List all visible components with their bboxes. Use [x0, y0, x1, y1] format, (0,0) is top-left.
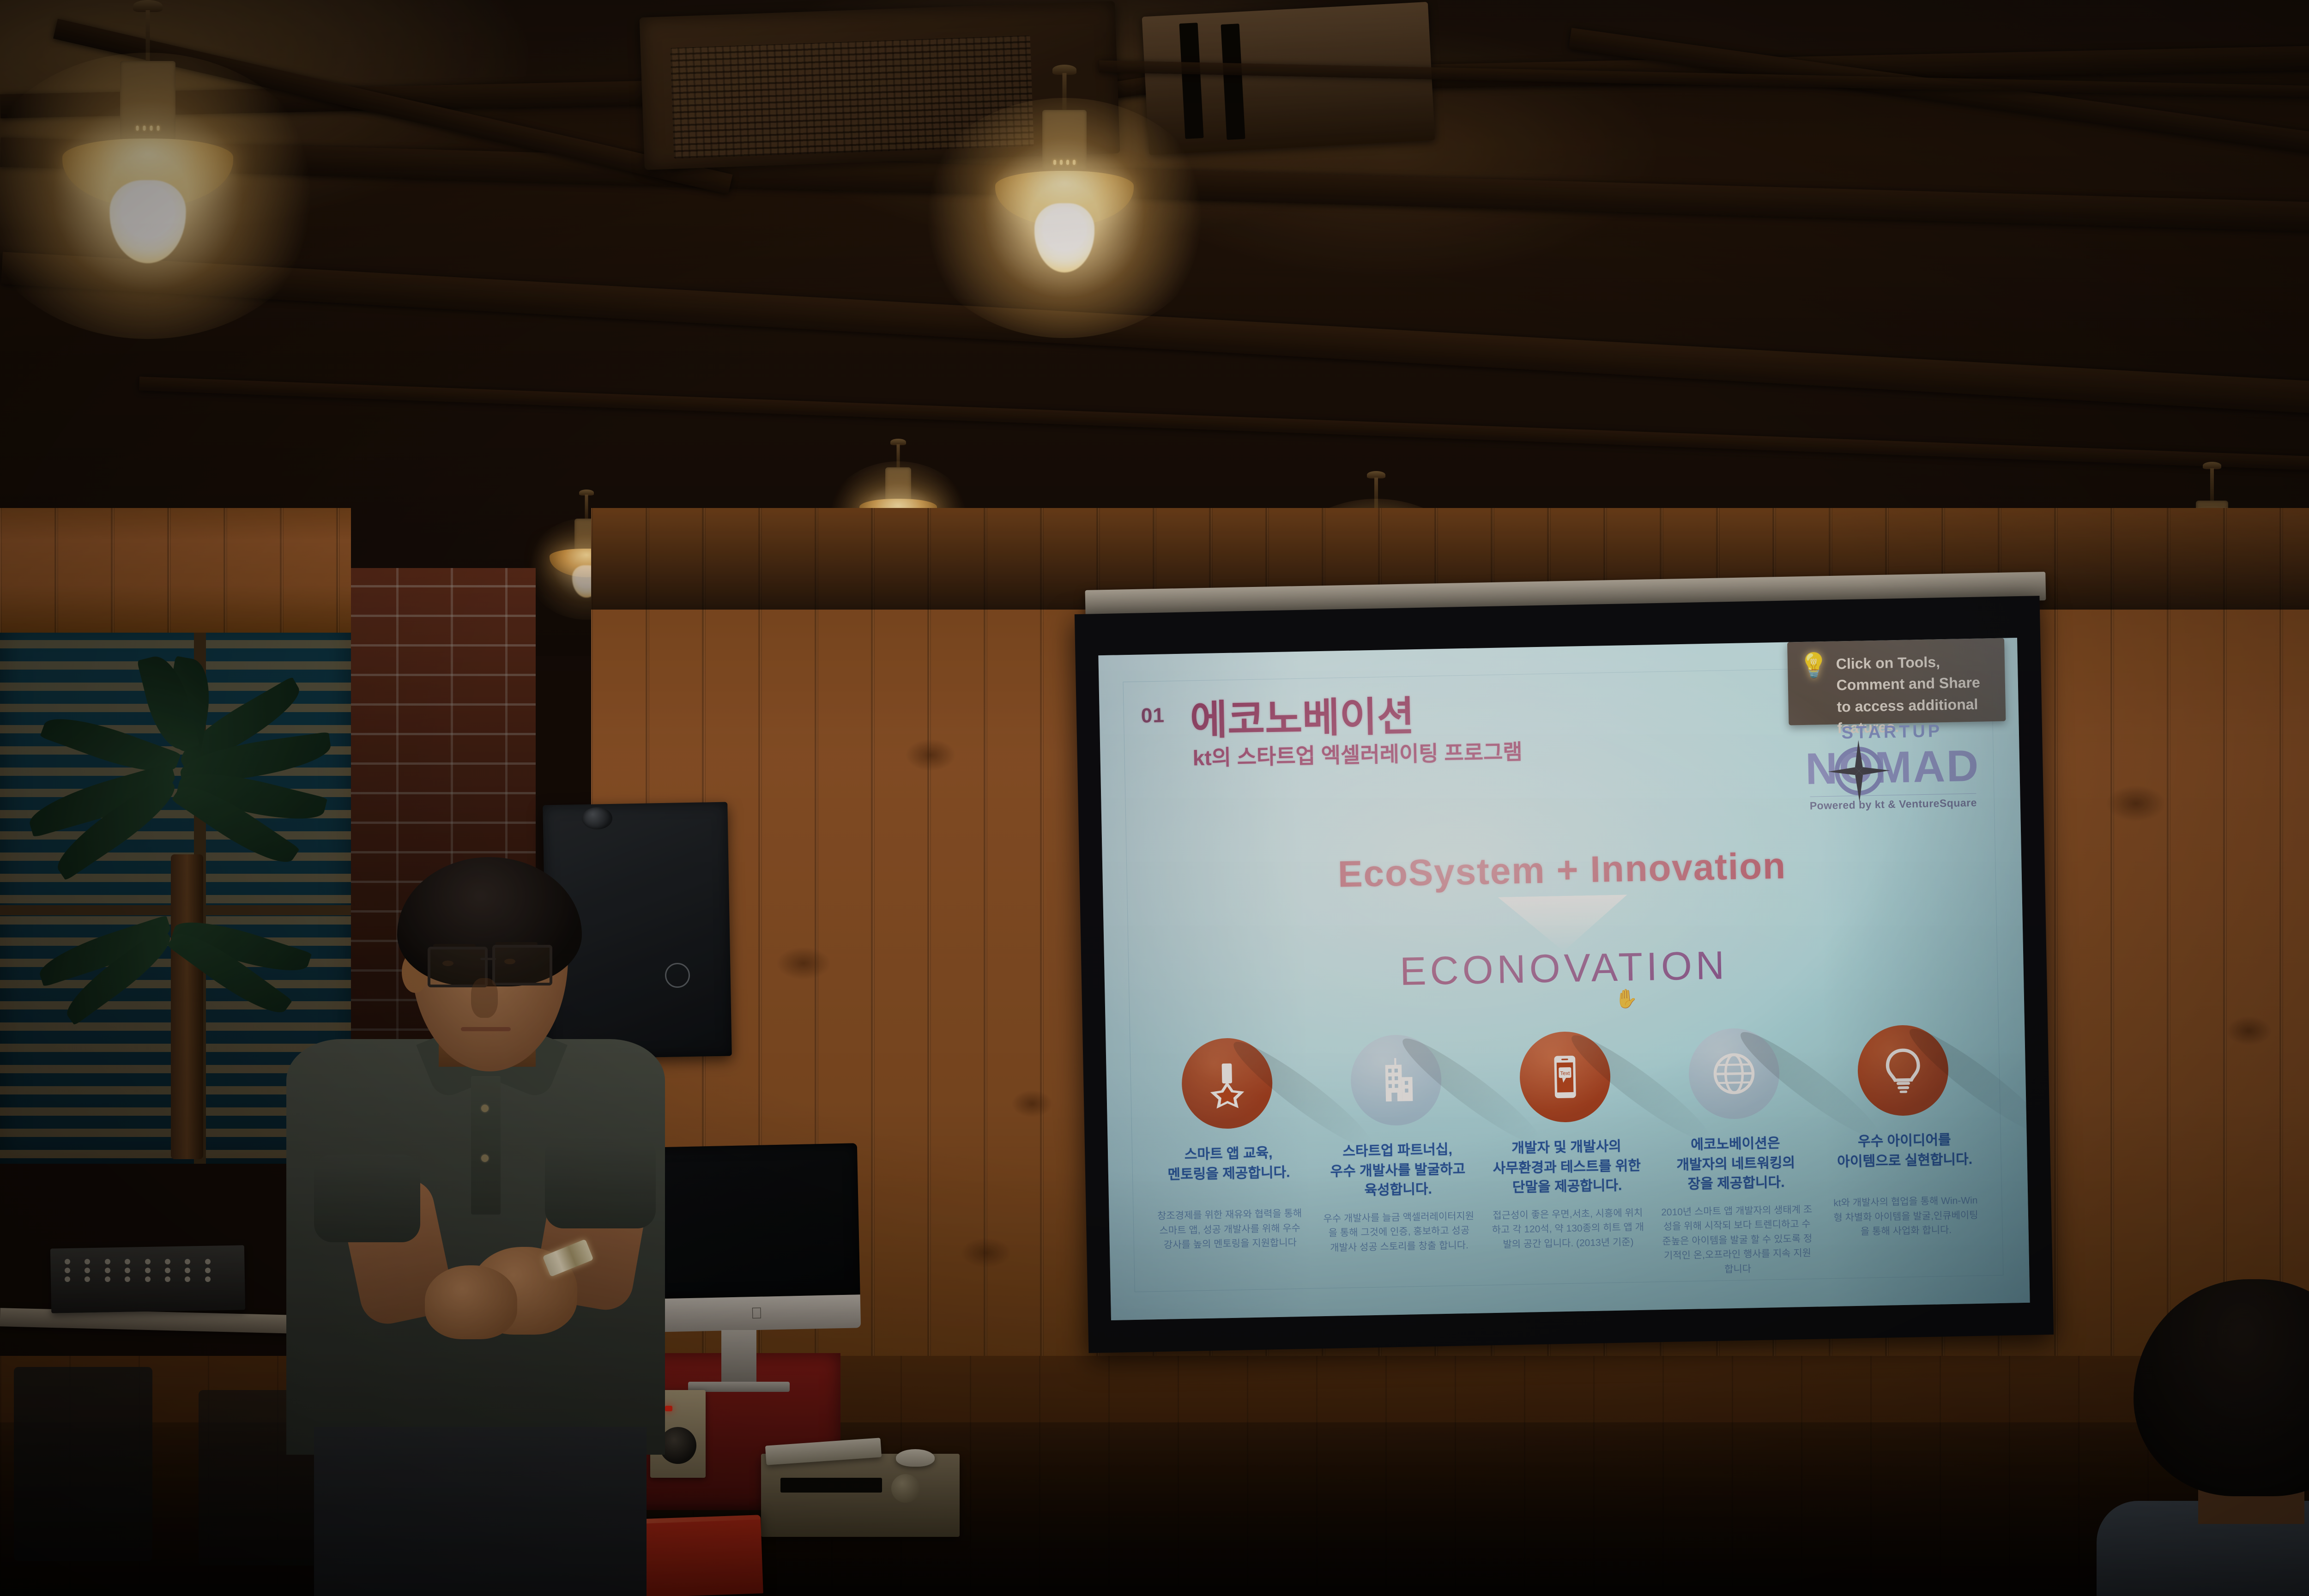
feature-column: 에코노베이션은 개발자의 네트워킹의 장을 제공합니다. 2010년 스마트 앱… — [1657, 1027, 1814, 1278]
presenter — [286, 831, 817, 1596]
feature-body: kt와 개발사의 협업을 통해 Win-Win형 차별화 아이템을 발굴,인큐베… — [1829, 1193, 1983, 1240]
feature-body: 우수 개발사를 늘금 액셀러레이터지원을 통해 그것에 인증, 홍보하고 성공 … — [1323, 1209, 1476, 1256]
tooltip-popup[interactable]: 💡 Click on Tools, Comment and Share to a… — [1787, 638, 2006, 725]
feature-columns: 스마트 앱 교육, 멘토링을 제공합니다. 창조경제를 위한 재유와 협력을 통… — [1150, 1024, 1986, 1288]
feature-body: 창조경제를 위한 재유와 협력을 통해 스마트 앱, 성공 개발사를 위해 우수… — [1153, 1206, 1306, 1253]
presenter-sleeve — [314, 1155, 420, 1242]
eyeglasses-bridge — [480, 958, 496, 960]
feature-column: 스타트업 파트너십, 우수 개발사를 발굴하고 육성합니다. 우수 개발사를 늘… — [1319, 1034, 1475, 1256]
mouse[interactable] — [896, 1449, 935, 1467]
wood-knot — [1011, 1090, 1053, 1118]
presenter-trousers — [314, 1427, 647, 1596]
feature-column: 스마트 앱 교육, 멘토링을 제공합니다. 창조경제를 위한 재유와 협력을 통… — [1150, 1037, 1306, 1253]
presenter-placket — [471, 1076, 501, 1215]
photo-scene: 01 에코노베이션 kt의 스타트업 엑셀러레이팅 프로그램 EcoSystem… — [0, 0, 2309, 1596]
presenter-sleeve — [545, 1136, 656, 1228]
logo-main-word: NOMAD — [1783, 740, 2001, 795]
desk — [0, 1308, 296, 1334]
feature-body: 2010년 스마트 앱 개발자의 생태계 조성을 위해 시작되 보다 트렌디하고… — [1660, 1203, 1814, 1278]
speaker-mount — [582, 807, 612, 829]
receiver-volume-knob[interactable] — [891, 1474, 920, 1503]
feature-title: 스마트 앱 교육, 멘토링을 제공합니다. — [1167, 1143, 1290, 1185]
hand-cursor-icon[interactable]: ✋ — [1614, 988, 1638, 1010]
presenter-nose — [471, 978, 498, 1018]
lightbulb-idea-icon — [1857, 1024, 1949, 1117]
pendant-lamp — [60, 0, 236, 296]
slide-section-number: 01 — [1141, 704, 1165, 728]
medal-award-icon — [1181, 1037, 1273, 1130]
wood-knot — [2226, 1016, 2272, 1046]
wood-knot — [905, 739, 956, 771]
pendant-lamp — [988, 65, 1141, 323]
office-building-icon — [1350, 1034, 1442, 1126]
slide-subtitle: kt의 스타트업 엑셀러레이팅 프로그램 — [1192, 735, 1523, 772]
shirt-button — [481, 1155, 489, 1162]
lightbulb-icon: 💡 — [1799, 653, 1829, 678]
feature-body: 접근성이 좋은 우면,서초, 시흥에 위치하고 각 120석, 약 130종의 … — [1492, 1206, 1645, 1252]
presenter-hand — [425, 1265, 517, 1339]
presenter-mouth — [461, 1027, 511, 1031]
feature-column: Text 개발자 및 개발사의 사무환경과 테스트를 위한 단말을 제공합니다.… — [1488, 1030, 1644, 1252]
mobile-message-icon: Text — [1519, 1031, 1611, 1123]
mixer-knobs[interactable] — [65, 1259, 222, 1282]
chair — [14, 1367, 152, 1561]
feature-title: 스타트업 파트너십, 우수 개발사를 발굴하고 육성합니다. — [1330, 1140, 1466, 1201]
shirt-button — [481, 1105, 489, 1112]
svg-text:Text: Text — [1560, 1071, 1570, 1076]
presentation-slide: 01 에코노베이션 kt의 스타트업 엑셀러레이팅 프로그램 EcoSystem… — [1098, 638, 2030, 1320]
presenter-hair — [397, 857, 582, 986]
eyeglasses-lens — [492, 945, 552, 985]
page-title: 에코노베이션 — [1190, 683, 1415, 746]
feature-title: 에코노베이션은 개발자의 네트워킹의 장을 제공합니다. — [1676, 1133, 1795, 1195]
startup-nomad-logo: STARTUP NOMAD Powered by kt & VentureSqu… — [1783, 720, 2002, 813]
wood-knot — [2106, 785, 2166, 822]
feature-column: 우수 아이디어를 아이템으로 실현합니다. kt와 개발사의 협업을 통해 Wi… — [1826, 1024, 1983, 1240]
feature-title: 우수 아이디어를 아이템으로 실현합니다. — [1837, 1130, 1972, 1172]
wood-knot — [961, 1238, 1011, 1268]
feature-title: 개발자 및 개발사의 사무환경과 테스트를 위한 단말을 제공합니다. — [1492, 1137, 1641, 1198]
plant-trunk — [171, 854, 203, 1159]
hvac-grill — [670, 35, 1034, 158]
globe-network-icon — [1688, 1028, 1780, 1120]
compass-rose-icon — [1826, 738, 1892, 804]
